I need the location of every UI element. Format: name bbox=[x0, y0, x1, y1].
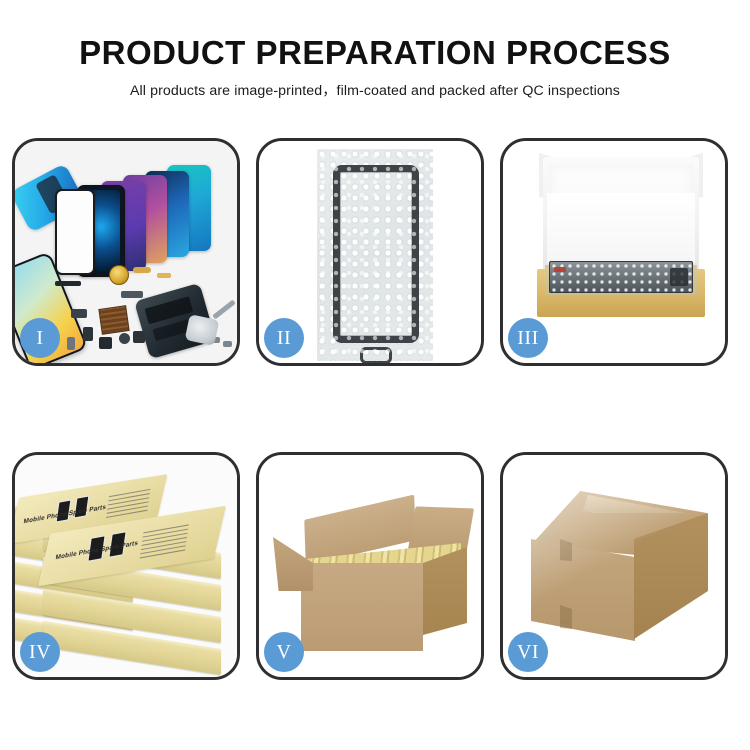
spare-part-icon bbox=[133, 267, 151, 273]
phone-white-front-icon bbox=[55, 189, 95, 275]
page-title: PRODUCT PREPARATION PROCESS bbox=[0, 34, 750, 72]
header: PRODUCT PREPARATION PROCESS All products… bbox=[0, 34, 750, 100]
wrapped-screen-in-box bbox=[549, 261, 693, 293]
spare-part-icon bbox=[133, 331, 145, 343]
process-step-5: V bbox=[256, 452, 484, 680]
process-step-2: II bbox=[256, 138, 484, 366]
phone-glass-screen bbox=[333, 165, 419, 343]
gold-coil-part-icon bbox=[109, 265, 129, 285]
carton-seam bbox=[560, 605, 572, 629]
step-badge-6: VI bbox=[508, 632, 548, 672]
spare-part-icon bbox=[71, 309, 87, 318]
process-step-6: VI bbox=[500, 452, 728, 680]
product-preparation-infographic: PRODUCT PREPARATION PROCESS All products… bbox=[0, 0, 750, 750]
process-step-1: I bbox=[12, 138, 240, 366]
page-subtitle: All products are image-printed，film-coat… bbox=[0, 80, 750, 100]
process-step-3: III bbox=[500, 138, 728, 366]
spare-part-icon bbox=[67, 337, 75, 350]
step-badge-1: I bbox=[20, 318, 60, 358]
step-badge-2: II bbox=[264, 318, 304, 358]
spare-part-icon bbox=[212, 300, 236, 320]
spare-part-icon bbox=[119, 333, 130, 344]
foam-padding bbox=[547, 193, 695, 263]
spare-part-icon bbox=[99, 337, 112, 349]
step-badge-4: IV bbox=[20, 632, 60, 672]
spare-part-icon bbox=[55, 281, 81, 286]
process-step-4: Mobile Phone Spare Parts Mobile Phone Sp… bbox=[12, 452, 240, 680]
process-steps-grid: I II III bbox=[12, 138, 740, 680]
step-badge-3: III bbox=[508, 318, 548, 358]
spare-part-icon bbox=[83, 327, 93, 341]
spare-part-icon bbox=[157, 273, 171, 278]
carton-front-face bbox=[301, 563, 423, 651]
spare-part-icon bbox=[121, 291, 143, 298]
step-badge-5: V bbox=[264, 632, 304, 672]
chip-grid-part-icon bbox=[98, 305, 129, 335]
spare-part-icon bbox=[223, 341, 232, 347]
